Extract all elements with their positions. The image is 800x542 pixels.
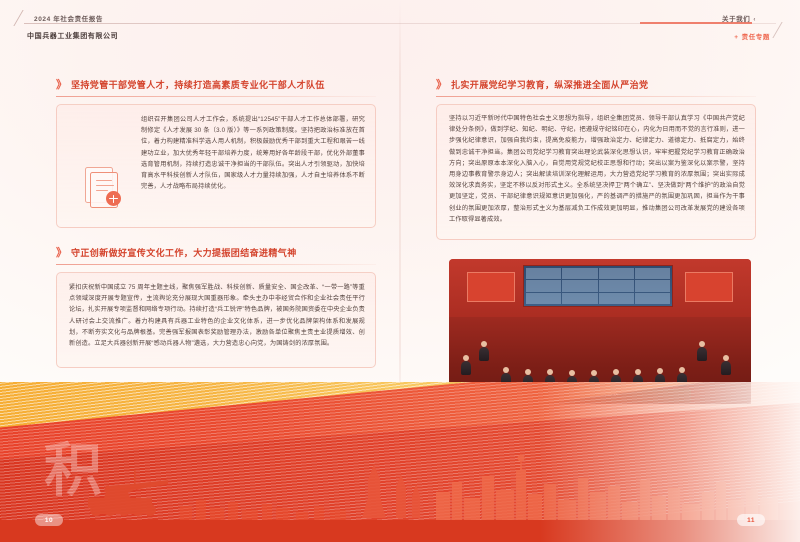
section-underline [436, 96, 756, 97]
section-body-discipline: 坚持以习近平新时代中国特色社会主义思想为指导，组织全集团党员、领导干部认真学习《… [449, 113, 745, 225]
report-page-spread: 2024 年社会责任报告 中国兵器工业集团有限公司 关于我们‹ +责任专题 》 … [0, 0, 800, 542]
section-heading-discipline: 》 扎实开展党纪学习教育，纵深推进全面从严治党 [436, 78, 756, 97]
decorative-artwork: 积 [0, 382, 800, 542]
header-nav-about-label: 关于我们 [722, 16, 750, 23]
decor-big-character: 积 [44, 442, 106, 500]
plus-icon: + [734, 34, 738, 41]
header-report-title: 2024 年社会责任报告 [34, 13, 103, 23]
section-heading-row: 》 守正创新做好宣传文化工作，大力提振团结奋进精气神 [56, 246, 376, 259]
double-chevron-right-icon: 》 [56, 80, 65, 91]
section-heading-talent: 》 坚持党管干部党管人才，持续打造高素质专业化干部人才队伍 [56, 78, 376, 97]
section-heading-culture: 》 守正创新做好宣传文化工作，大力提振团结奋进精气神 [56, 246, 376, 265]
header-nav-about[interactable]: 关于我们‹ [722, 13, 756, 23]
photo-video-grid [526, 268, 670, 304]
photo-video-wall [523, 265, 673, 307]
page-gutter [399, 0, 401, 430]
section-title: 扎实开展党纪学习教育，纵深推进全面从严治党 [451, 78, 648, 91]
section-underline [56, 96, 376, 97]
page-number-right: 11 [737, 514, 765, 526]
content-card-talent: 组织召开集团公司人才工作会，系统提出“12545”干部人才工作总体部署，研究制修… [56, 104, 376, 228]
photo-banner-left [467, 272, 515, 302]
header-nav-topic[interactable]: +责任专题 [734, 31, 770, 41]
photo-banner-right [685, 272, 733, 302]
section-heading-row: 》 扎实开展党纪学习教育，纵深推进全面从严治党 [436, 78, 756, 91]
section-underline [56, 264, 376, 265]
content-card-culture: 紧扣庆祝新中国成立 75 周年主题主线，聚焦强军胜战、科技创新、质量安全、国企改… [56, 272, 376, 368]
double-chevron-right-icon: 》 [56, 248, 65, 259]
section-title: 守正创新做好宣传文化工作，大力提振团结奋进精气神 [71, 246, 297, 259]
header-company-name: 中国兵器工业集团有限公司 [27, 31, 118, 41]
page-number-left: 10 [35, 514, 63, 526]
page-header: 2024 年社会责任报告 中国兵器工业集团有限公司 关于我们‹ +责任专题 [0, 0, 800, 56]
double-chevron-right-icon: 》 [436, 80, 445, 91]
section-body-talent: 组织召开集团公司人才工作会，系统提出“12545”干部人才工作总体部署，研究制修… [141, 114, 365, 192]
section-heading-row: 》 坚持党管干部党管人才，持续打造高素质专业化干部人才队伍 [56, 78, 376, 91]
section-body-culture: 紧扣庆祝新中国成立 75 周年主题主线，聚焦强军胜战、科技创新、质量安全、国企改… [69, 282, 365, 349]
header-nav-topic-label: 责任专题 [742, 34, 770, 41]
content-card-discipline: 坚持以习近平新时代中国特色社会主义思想为指导，组织全集团党员、领导干部认真学习《… [436, 104, 756, 240]
document-stack-icon [79, 163, 123, 213]
section-title: 坚持党管干部党管人才，持续打造高素质专业化干部人才队伍 [71, 78, 325, 91]
plus-badge-icon [106, 191, 121, 206]
chevron-left-icon: ‹ [753, 17, 756, 23]
